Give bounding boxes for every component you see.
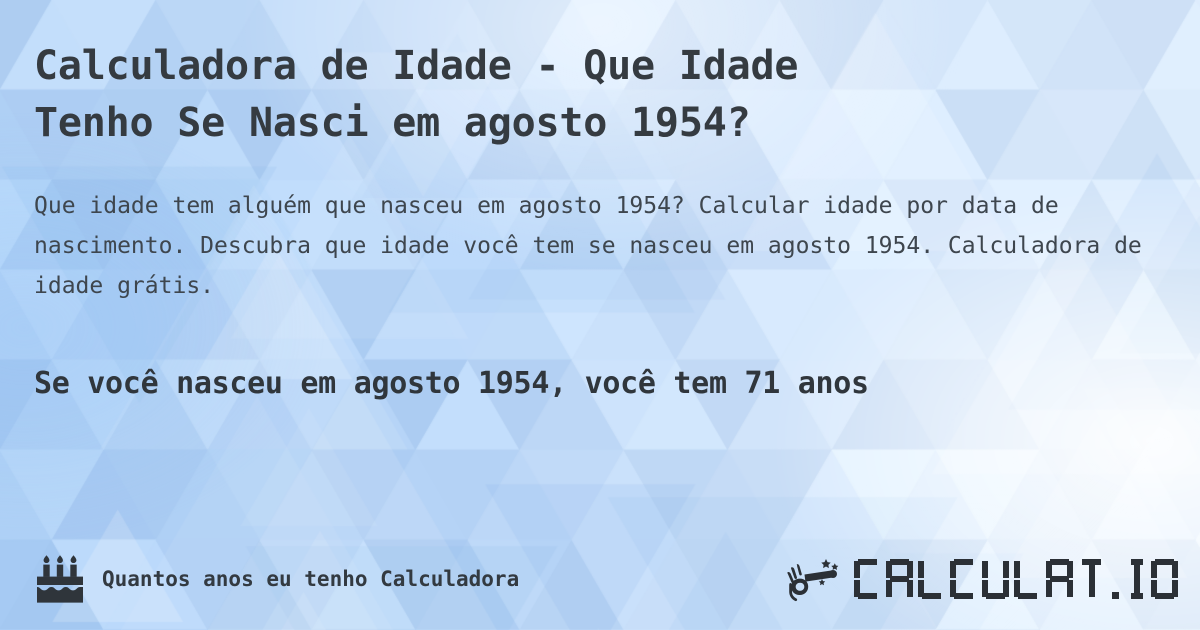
brand-letter-l2 bbox=[1014, 559, 1041, 599]
page-title: Calculadora de Idade - Que Idade Tenho S… bbox=[34, 38, 1014, 152]
brand-letter-u1 bbox=[982, 559, 1009, 599]
footer: Quantos anos eu tenho Calculadora bbox=[34, 548, 1178, 610]
birthday-cake-icon bbox=[34, 554, 86, 604]
brand-letter-l1 bbox=[918, 559, 945, 599]
page-description: Que idade tem alguém que nasceu em agost… bbox=[34, 186, 1154, 307]
brand-letter-a1 bbox=[886, 559, 913, 599]
brand-letter-o1 bbox=[1151, 559, 1178, 599]
brand-logo[interactable] bbox=[786, 556, 1178, 602]
brand-letter-a2 bbox=[1046, 559, 1073, 599]
brand-letter-c2 bbox=[950, 559, 977, 599]
footer-label: Quantos anos eu tenho Calculadora bbox=[102, 567, 519, 591]
brand-wordmark bbox=[854, 559, 1178, 599]
footer-left-group: Quantos anos eu tenho Calculadora bbox=[34, 554, 519, 604]
brand-letter-c1 bbox=[854, 559, 881, 599]
brand-letter-i1 bbox=[1128, 559, 1146, 599]
age-answer-text: Se você nasceu em agosto 1954, você tem … bbox=[34, 364, 1166, 403]
page-content: Calculadora de Idade - Que Idade Tenho S… bbox=[0, 0, 1200, 630]
magic-wand-hand-icon bbox=[786, 556, 844, 602]
brand-letter-dot bbox=[1110, 559, 1123, 599]
brand-letter-t1 bbox=[1078, 559, 1105, 599]
